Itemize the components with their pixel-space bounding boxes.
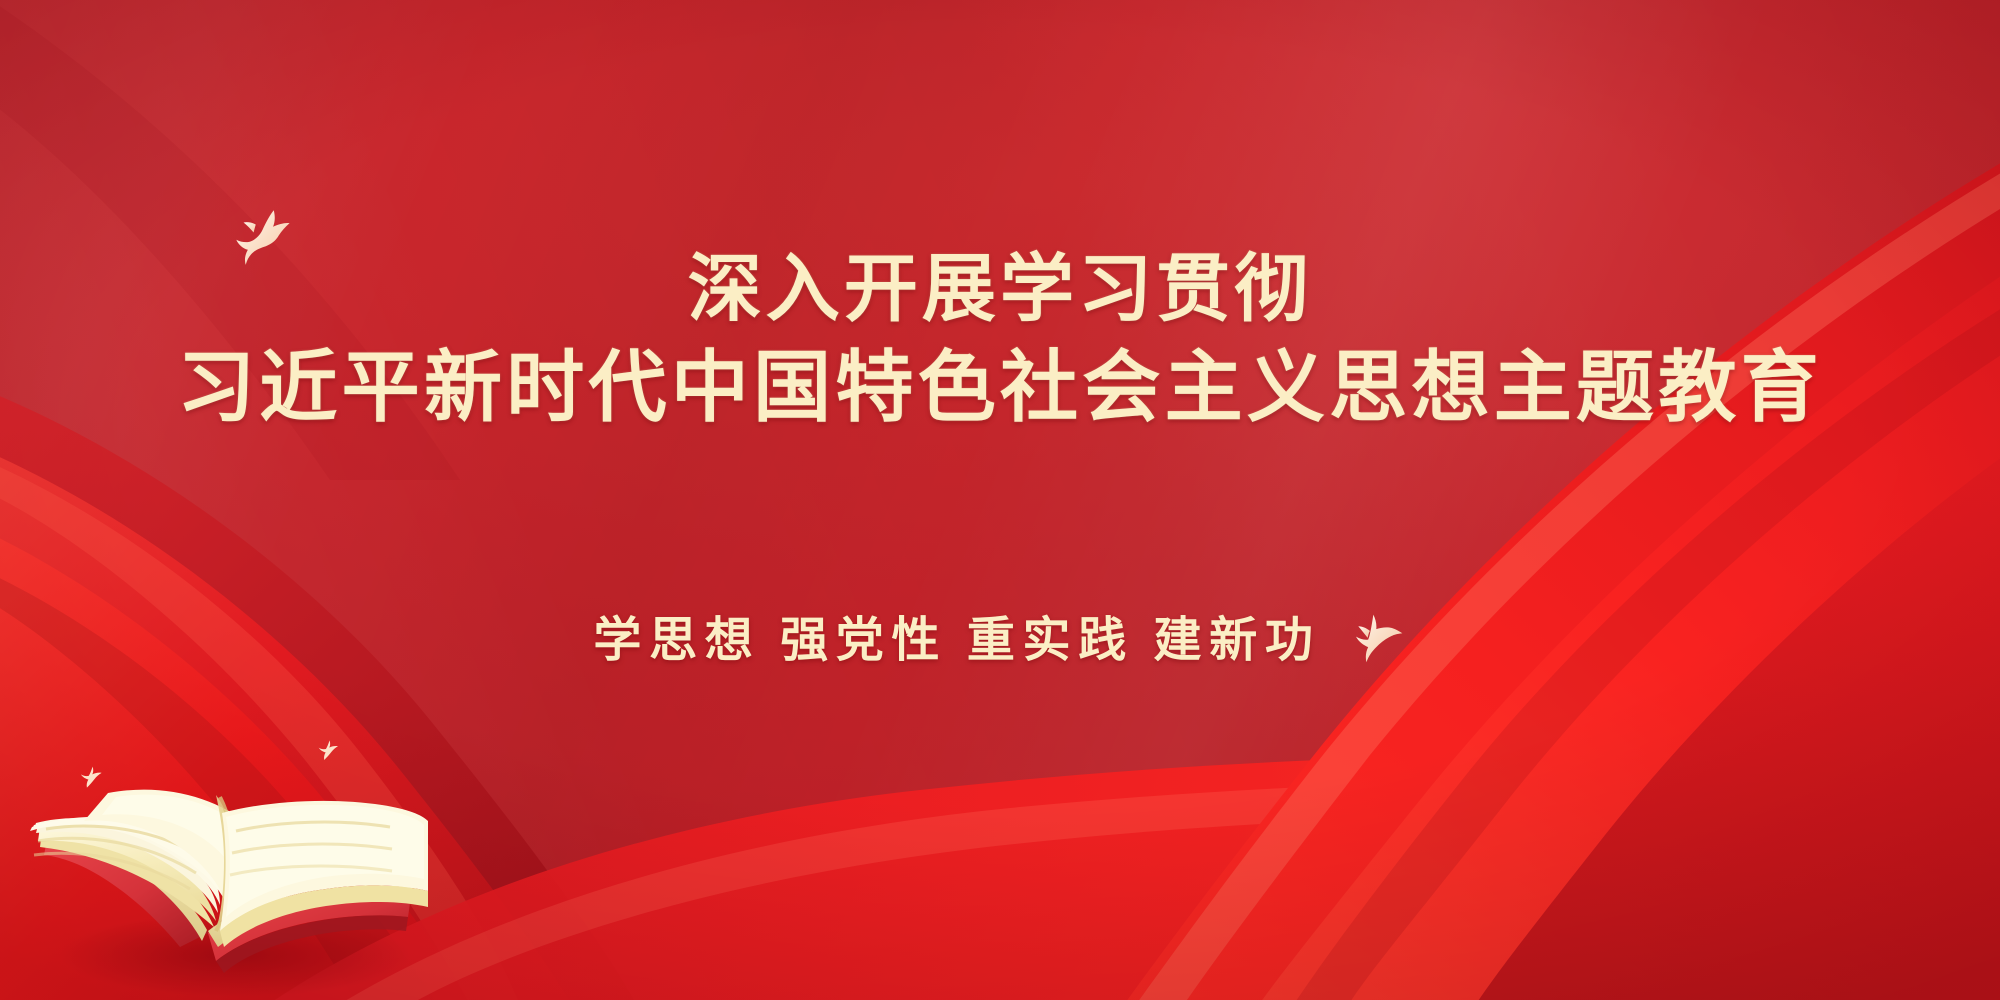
subtitle-text: 学思想 强党性 重实践 建新功 (593, 600, 1320, 670)
dove-icon-glyph (232, 203, 304, 275)
banner-poster: 深入开展学习贯彻 习近平新时代中国特色社会主义思想主题教育 学思想 强党性 重实… (0, 0, 2000, 1000)
dove-icon (232, 203, 304, 275)
subtitle-row: 学思想 强党性 重实践 建新功 (0, 600, 2000, 670)
dove-icon (1349, 610, 1407, 673)
title-line-2: 习近平新时代中国特色社会主义思想主题教育 (0, 343, 2000, 433)
open-book-illustration (30, 735, 430, 1000)
dove-icon-glyph (1349, 610, 1407, 668)
open-book-glyph (30, 735, 430, 1000)
headline-block: 深入开展学习贯彻 习近平新时代中国特色社会主义思想主题教育 (0, 248, 2000, 433)
